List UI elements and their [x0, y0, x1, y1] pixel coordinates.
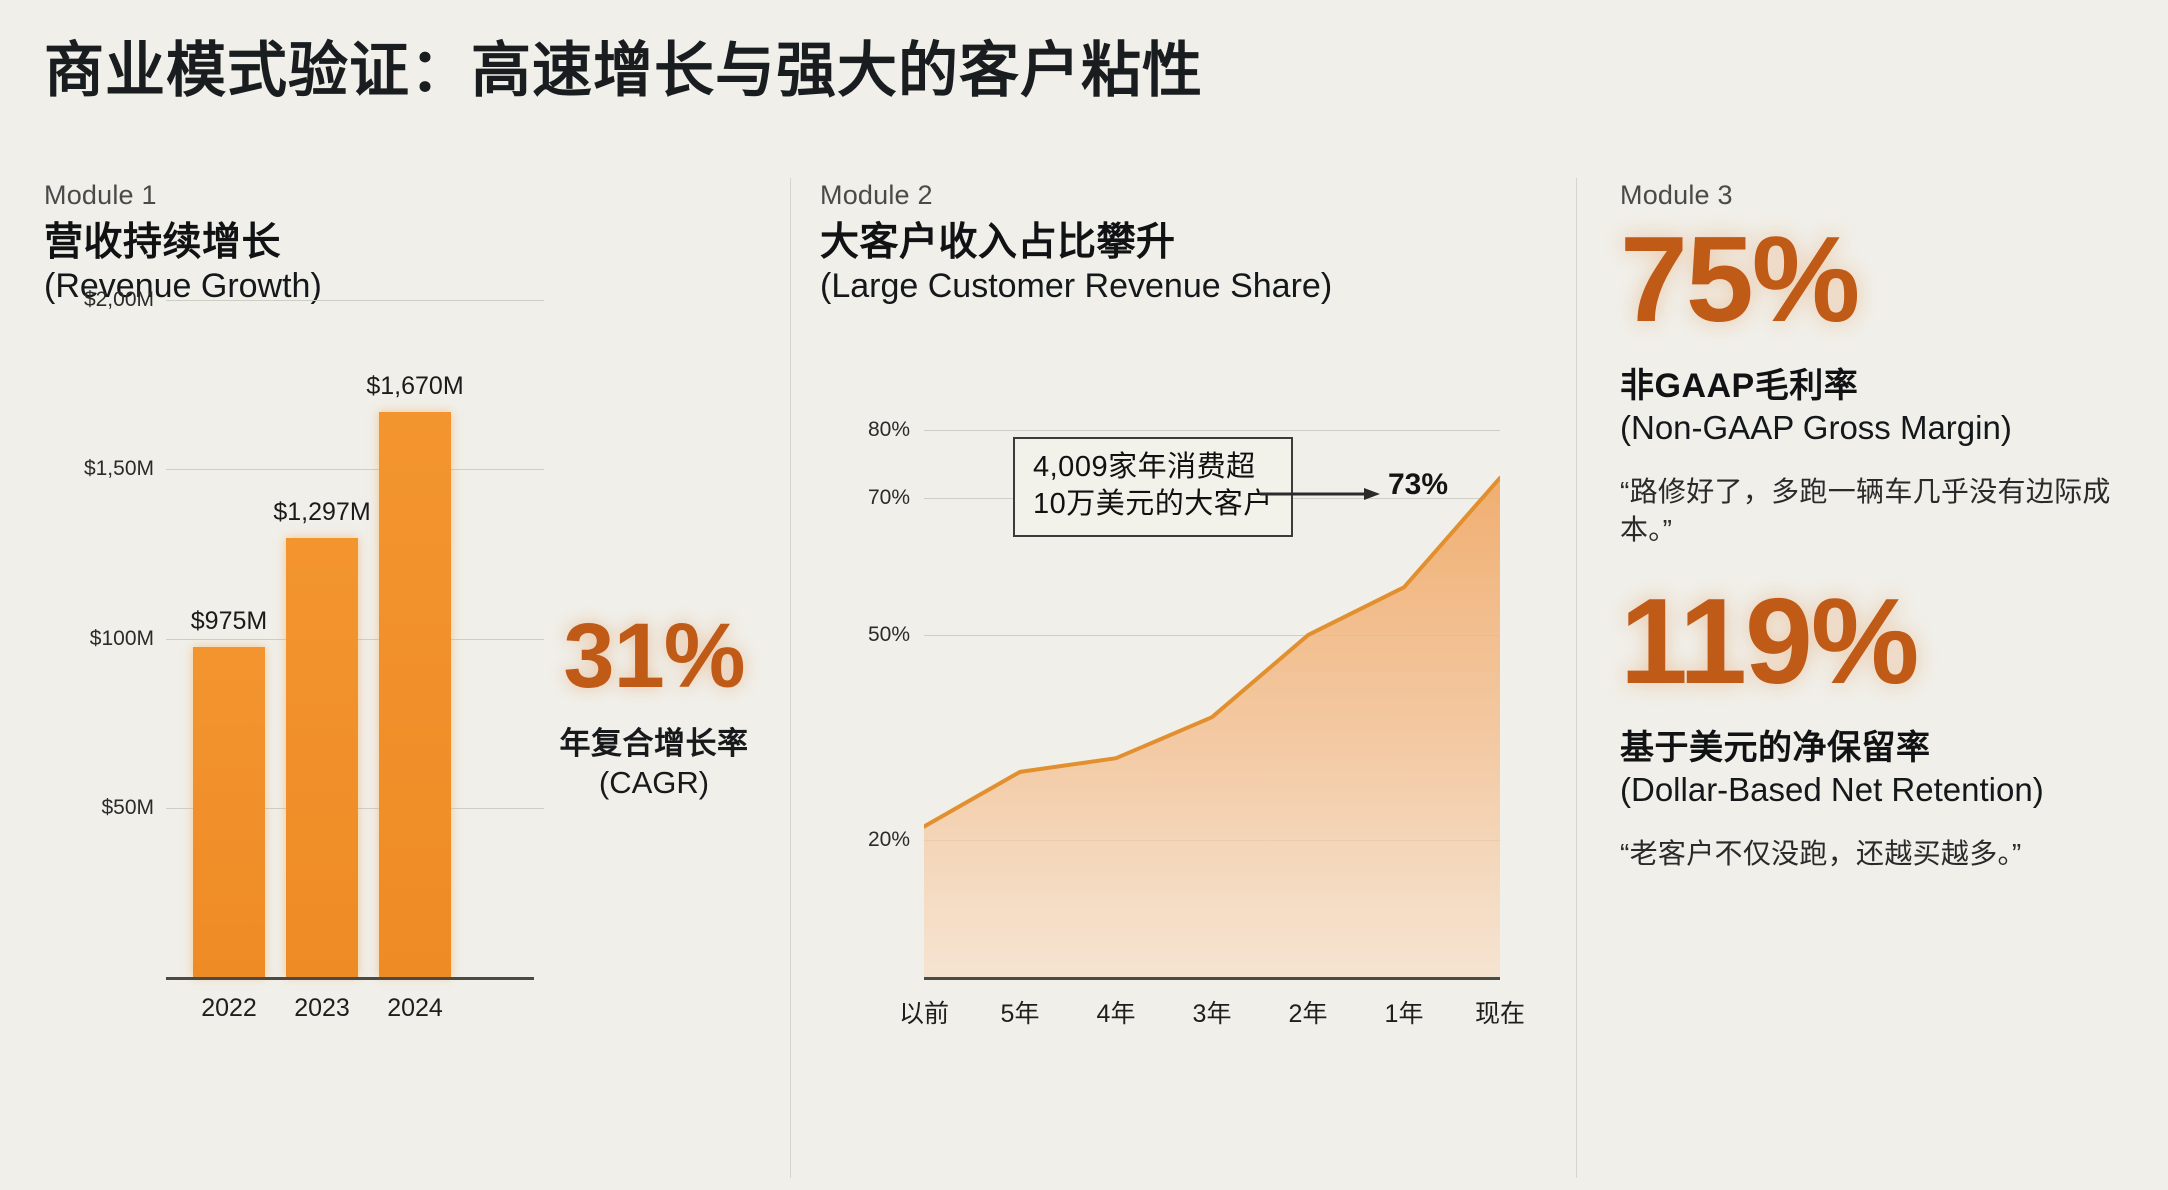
module-3-tag: Module 3	[1620, 180, 2140, 211]
bar	[379, 412, 451, 977]
cagr-callout: 31% 年复合增长率 (CAGR)	[514, 610, 794, 801]
revenue-bar-chart: $2,00M$1,50M$100M$50M $975M$1,297M$1,670…	[44, 300, 544, 980]
gross-margin-label-cn: 非GAAP毛利率	[1620, 358, 2140, 407]
module-2-title-cn: 大客户收入占比攀升	[820, 221, 1560, 265]
net-retention-quote: “老客户不仅没跑，还越买越多。”	[1620, 835, 2140, 873]
cagr-label-cn: 年复合增长率	[514, 718, 794, 763]
gridline	[166, 469, 544, 470]
module-3-column: Module 3 75% 非GAAP毛利率 (Non-GAAP Gross Ma…	[1620, 180, 2140, 1180]
cagr-label-en: (CAGR)	[514, 765, 794, 801]
area-chart-end-value: 73%	[1388, 468, 1448, 502]
gross-margin-stat: 75% 非GAAP毛利率 (Non-GAAP Gross Margin) “路修…	[1620, 218, 2140, 548]
module-1-column: Module 1 营收持续增长 (Revenue Growth) $2,00M$…	[44, 180, 784, 1180]
x-axis-tick-label: 2022	[201, 994, 257, 1023]
module-2-column: Module 2 大客户收入占比攀升 (Large Customer Reven…	[820, 180, 1560, 1180]
bar-value-label: $1,670M	[366, 372, 463, 401]
bar-value-label: $1,297M	[273, 498, 370, 527]
slide-root: 商业模式验证：高速增长与强大的客户粘性 Module 1 营收持续增长 (Rev…	[0, 0, 2168, 1190]
x-axis-tick-label: 2023	[294, 994, 350, 1023]
x-axis-tick-label: 5年	[1001, 994, 1040, 1030]
bar	[286, 538, 358, 977]
column-divider-2	[1576, 178, 1577, 1178]
bar	[193, 647, 265, 977]
large-customer-annotation: 4,009家年消费超 10万美元的大客户	[1013, 437, 1293, 537]
module-2-tag: Module 2	[820, 180, 1560, 211]
module-1-title-cn: 营收持续增长	[44, 221, 784, 265]
annotation-arrow-icon	[1260, 486, 1382, 502]
page-title: 商业模式验证：高速增长与强大的客户粘性	[44, 22, 1203, 109]
y-axis-tick-label: 50%	[820, 623, 910, 647]
y-axis-tick-label: $1,50M	[44, 457, 154, 481]
x-axis-tick-label: 2年	[1289, 994, 1328, 1030]
x-axis-tick-label: 现在	[1475, 994, 1525, 1030]
gridline	[166, 300, 544, 301]
gross-margin-value: 75%	[1620, 218, 2140, 340]
net-retention-value: 119%	[1620, 580, 2140, 702]
bar-value-label: $975M	[191, 607, 267, 636]
cagr-value: 31%	[514, 610, 794, 702]
customer-share-area-chart: 80%70%50%20% 以前5年4年3年2年1年现在 4,009家年消费超 1…	[820, 300, 1500, 980]
x-axis-tick-label: 1年	[1385, 994, 1424, 1030]
module-1-tag: Module 1	[44, 180, 784, 211]
net-retention-label-en: (Dollar-Based Net Retention)	[1620, 771, 2140, 809]
y-axis-tick-label: $50M	[44, 796, 154, 820]
y-axis-tick-label: 70%	[820, 486, 910, 510]
area-chart-x-axis-line	[924, 977, 1500, 980]
x-axis-tick-label: 4年	[1097, 994, 1136, 1030]
x-axis-tick-label: 3年	[1193, 994, 1232, 1030]
x-axis-tick-label: 2024	[387, 994, 443, 1023]
y-axis-tick-label: $2,00M	[44, 288, 154, 312]
bar-chart-x-axis-line	[166, 977, 534, 980]
y-axis-tick-label: 80%	[820, 418, 910, 442]
net-retention-label-cn: 基于美元的净保留率	[1620, 720, 2140, 769]
y-axis-tick-label: $100M	[44, 627, 154, 651]
x-axis-tick-label: 以前	[899, 994, 949, 1030]
gross-margin-quote: “路修好了，多跑一辆车几乎没有边际成本。”	[1620, 473, 2140, 548]
annotation-line-1: 4,009家年消费超	[1033, 449, 1273, 486]
annotation-line-2: 10万美元的大客户	[1033, 486, 1273, 523]
gross-margin-label-en: (Non-GAAP Gross Margin)	[1620, 409, 2140, 447]
y-axis-tick-label: 20%	[820, 828, 910, 852]
net-retention-stat: 119% 基于美元的净保留率 (Dollar-Based Net Retenti…	[1620, 580, 2140, 873]
